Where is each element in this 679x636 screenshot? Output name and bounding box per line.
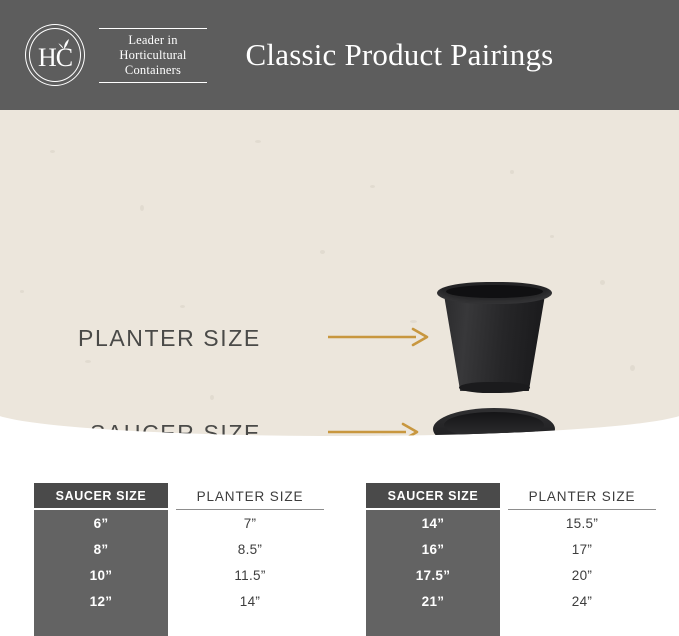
table-row: 8.5”: [176, 536, 324, 562]
saucer-size-column-right: SAUCER SIZE 14” 16” 17.5” 21”: [366, 483, 500, 636]
planter-size-column-right: PLANTER SIZE 15.5” 17” 20” 24”: [508, 483, 656, 636]
planter-size-column-left: PLANTER SIZE 7” 8.5” 11.5” 14”: [176, 483, 324, 636]
saucer-body: [433, 408, 555, 436]
planter-size-header-left: PLANTER SIZE: [176, 483, 324, 510]
hero-panel: PLANTER SIZE SAUCER SIZE: [0, 110, 679, 436]
saucer-size-column-left: SAUCER SIZE 6” 8” 10” 12”: [34, 483, 168, 636]
hero-label-planter-size: PLANTER SIZE: [78, 325, 261, 352]
planter-size-cells-right: 15.5” 17” 20” 24”: [508, 510, 656, 614]
planter-size-header-label: PLANTER SIZE: [197, 489, 304, 504]
saucer-well: [444, 412, 544, 436]
saucer-size-header-left: SAUCER SIZE: [34, 483, 168, 508]
table-row: 20”: [508, 562, 656, 588]
planter-size-header-right: PLANTER SIZE: [508, 483, 656, 510]
tagline-line-3: Containers: [99, 63, 207, 78]
pot-body: [444, 295, 545, 391]
saucer-size-header-right: SAUCER SIZE: [366, 483, 500, 508]
logo-monogram: HC: [24, 24, 86, 86]
brand-tagline: Leader in Horticultural Containers: [99, 28, 207, 83]
pot-base: [459, 382, 530, 393]
table-row: 8”: [34, 536, 168, 562]
table-row: 12”: [34, 588, 168, 614]
table-row: 6”: [34, 510, 168, 536]
arrow-right-icon-saucer: [328, 421, 420, 436]
size-chart-tables: SAUCER SIZE 6” 8” 10” 12” PLANTER SIZE 7…: [0, 483, 679, 636]
logo-oval-mark: HC: [24, 24, 86, 86]
pot-rim: [437, 282, 552, 304]
planter-size-cells-left: 7” 8.5” 11.5” 14”: [176, 510, 324, 614]
table-row: 21”: [366, 588, 500, 614]
table-row: 7”: [176, 510, 324, 536]
table-row: 17.5”: [366, 562, 500, 588]
saucer-size-cells-right: 14” 16” 17.5” 21”: [366, 510, 500, 614]
arrow-right-icon-planter: [328, 326, 430, 348]
table-row: 16”: [366, 536, 500, 562]
table-row: 14”: [366, 510, 500, 536]
planter-size-header-label: PLANTER SIZE: [529, 489, 636, 504]
tagline-line-2: Horticultural: [99, 48, 207, 63]
saucer-size-cells-left: 6” 8” 10” 12”: [34, 510, 168, 614]
table-row: 14”: [176, 588, 324, 614]
brand-logo: HC Leader in Horticultural Containers: [24, 24, 207, 86]
table-row: 10”: [34, 562, 168, 588]
planter-pot-image: [437, 282, 552, 395]
saucer-size-header-label: SAUCER SIZE: [388, 489, 479, 503]
size-table-large: SAUCER SIZE 14” 16” 17.5” 21” PLANTER SI…: [366, 483, 656, 636]
size-table-small: SAUCER SIZE 6” 8” 10” 12” PLANTER SIZE 7…: [34, 483, 324, 636]
page-header: HC Leader in Horticultural Containers Cl…: [0, 0, 679, 110]
hero-label-saucer-size: SAUCER SIZE: [90, 420, 261, 436]
table-row: 17”: [508, 536, 656, 562]
pot-opening: [446, 285, 543, 298]
saucer-image: [433, 408, 555, 436]
leaf-icon: [56, 38, 72, 50]
table-row: 15.5”: [508, 510, 656, 536]
table-row: 11.5”: [176, 562, 324, 588]
tagline-line-1: Leader in: [99, 33, 207, 48]
saucer-size-header-label: SAUCER SIZE: [56, 489, 147, 503]
table-row: 24”: [508, 588, 656, 614]
product-pairings-infographic: HC Leader in Horticultural Containers Cl…: [0, 0, 679, 636]
